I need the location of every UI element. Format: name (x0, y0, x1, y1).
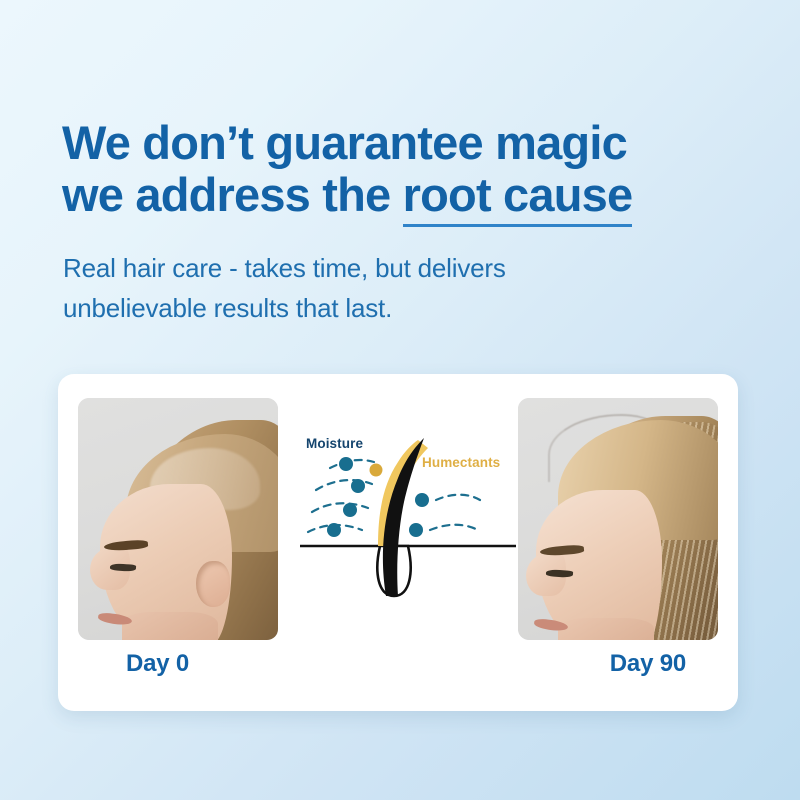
card-panels: Moisture Humectants Day 0 Day 90 (58, 374, 738, 711)
humectant-arc-2 (430, 525, 478, 530)
neck-shape (122, 612, 218, 640)
humectant-arc-group (430, 495, 480, 530)
moisture-label: Moisture (306, 436, 363, 451)
ear-shape (196, 561, 230, 607)
subtitle: Real hair care - takes time, but deliver… (63, 248, 683, 328)
hair-follicle-diagram: Moisture Humectants (294, 420, 522, 598)
moisture-droplet (351, 479, 365, 493)
headline-line-1: We don’t guarantee magic (62, 117, 762, 169)
before-photo (78, 398, 278, 640)
headline-line-2-prefix: we address the (62, 168, 403, 221)
moisture-droplet (327, 523, 341, 537)
before-after-card: Moisture Humectants Day 0 Day 90 (58, 374, 738, 711)
humectant-arc-1 (436, 495, 480, 500)
headline-line-2: we address the root cause (62, 169, 762, 221)
moisture-droplet (343, 503, 357, 517)
humectant-droplet (409, 523, 423, 537)
neck-shape (558, 618, 654, 640)
after-caption: Day 90 (610, 650, 686, 678)
subtitle-line-1: Real hair care - takes time, but deliver… (63, 248, 683, 288)
humectant-droplet (415, 493, 429, 507)
moisture-arc-3 (312, 503, 368, 512)
moisture-arc-group (308, 460, 374, 532)
moisture-droplet (339, 457, 353, 471)
headline-emphasis-root-cause: root cause (403, 168, 633, 227)
promo-poster: We don’t guarantee magic we address the … (0, 0, 800, 800)
humectants-label: Humectants (422, 455, 500, 470)
humectant-droplet-on-shaft (370, 464, 383, 477)
subtitle-line-2: unbelievable results that last. (63, 288, 683, 328)
humectant-droplet-group (409, 493, 429, 537)
before-caption: Day 0 (126, 650, 189, 678)
after-photo (518, 398, 718, 640)
page-title: We don’t guarantee magic we address the … (62, 117, 762, 221)
moisture-droplet-group (327, 457, 383, 537)
